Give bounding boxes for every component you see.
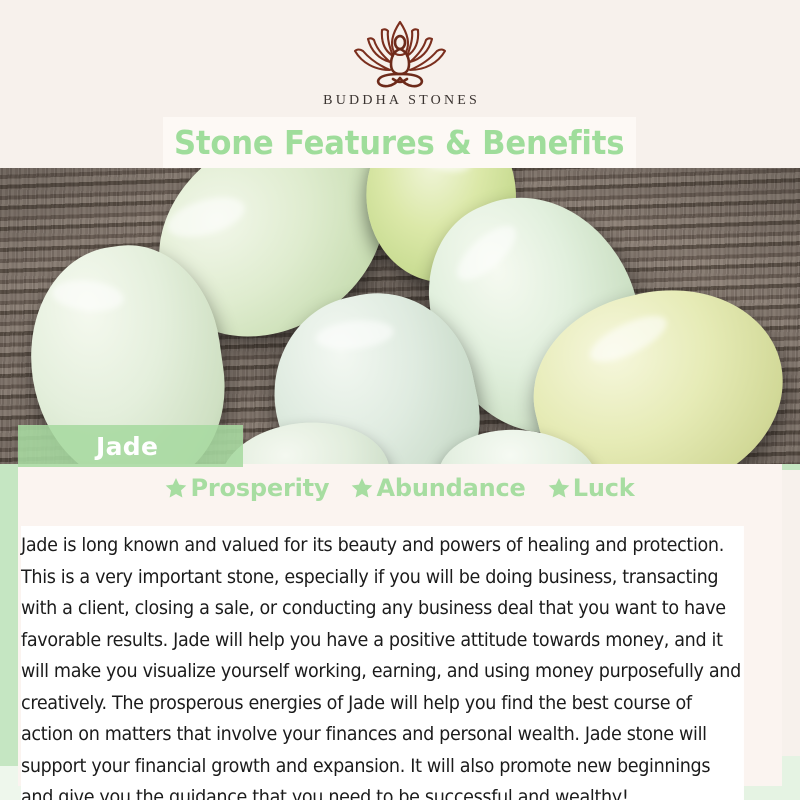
star-icon: [548, 477, 570, 498]
benefit-item-prosperity: Prosperity: [165, 474, 329, 502]
stone-description: Jade is long known and valued for its be…: [21, 526, 744, 800]
content-panel: Prosperity Abundance Luck Jade is long k…: [18, 464, 782, 786]
jade-stones-photo: [0, 168, 800, 464]
benefit-label: Luck: [573, 474, 635, 502]
left-accent-band-lower: [0, 436, 20, 800]
page-title: Stone Features & Benefits: [174, 123, 624, 162]
brand-name: BUDDHA STONES: [320, 93, 480, 109]
stone-name-banner: Jade: [18, 425, 243, 467]
benefit-label: Prosperity: [190, 474, 329, 502]
benefit-item-abundance: Abundance: [351, 474, 525, 502]
stone-name-label: Jade: [96, 432, 158, 461]
benefit-label: Abundance: [376, 474, 525, 502]
star-icon: [351, 477, 373, 498]
title-banner: Stone Features & Benefits: [163, 117, 636, 168]
lotus-meditation-icon: [348, 18, 452, 90]
star-icon: [165, 477, 187, 498]
benefits-list: Prosperity Abundance Luck: [18, 474, 782, 502]
benefit-item-luck: Luck: [548, 474, 635, 502]
stone-info-poster: BUDDHA STONES Stone Features & Benefits …: [0, 0, 800, 800]
brand-logo: BUDDHA STONES: [0, 18, 800, 109]
